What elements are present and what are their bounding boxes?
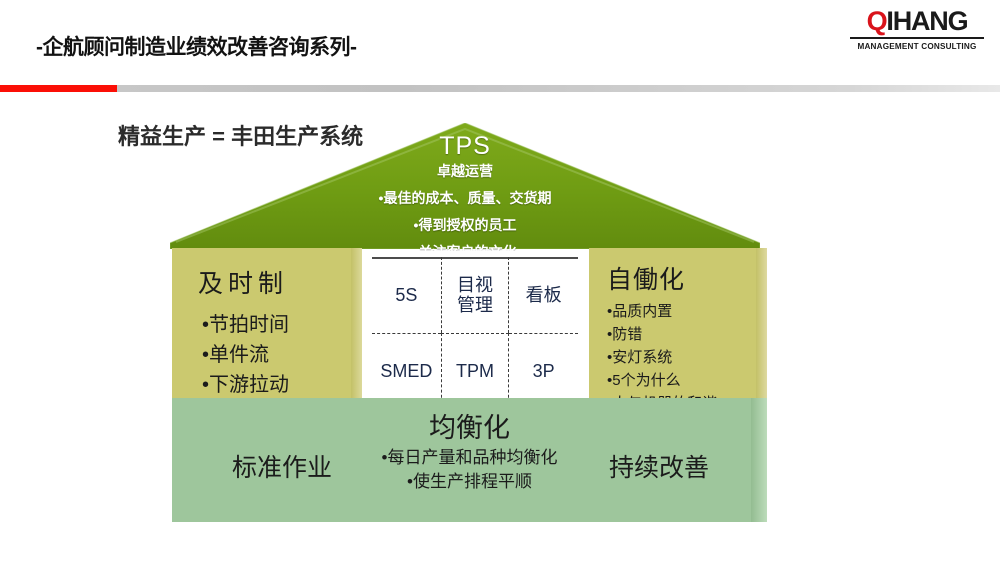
foundation-right-label: 持续改善 xyxy=(569,448,749,484)
roof-shape xyxy=(170,123,760,249)
tool-cell-visual-management: 目视管理 xyxy=(441,257,510,333)
brand-tagline: MANAGEMENT CONSULTING xyxy=(853,41,982,51)
brand-mark-q: Q xyxy=(867,6,887,36)
tps-house-diagram: 精益生产 = 丰田生产系统 TPS 卓越运营 •最佳的成本、质量、交货期 •得到… xyxy=(0,96,1000,562)
tool-cell-tpm: TPM xyxy=(441,333,510,409)
visual-management-line2: 管理 xyxy=(457,295,493,315)
header-divider-bar xyxy=(0,85,1000,92)
tool-cell-3p: 3P xyxy=(509,333,578,409)
pillar-left-bullets: •节拍时间 •单件流 •下游拉动 xyxy=(202,310,289,400)
foundation-edge-shade xyxy=(751,398,767,522)
pillar-left-heading: 及时制 xyxy=(198,264,288,300)
brand-mark-rest: IHANG xyxy=(886,6,967,36)
foundation-block: 标准作业 均衡化 •每日产量和品种均衡化 •使生产排程平顺 持续改善 xyxy=(172,398,767,522)
page-title: -企航顾问制造业绩效改善咨询系列- xyxy=(36,31,357,61)
pillar-right-bullet-1: •品质内置 xyxy=(607,301,717,324)
pillar-right-bullet-3: •安灯系统 xyxy=(607,347,717,370)
slide-header: -企航顾问制造业绩效改善咨询系列- QIHANG MANAGEMENT CONS… xyxy=(0,0,1000,88)
tool-cell-kanban: 看板 xyxy=(509,257,578,333)
pillar-right-heading: 自働化 xyxy=(607,260,685,296)
foundation-left-label: 标准作业 xyxy=(192,448,372,484)
foundation-center-block: 均衡化 •每日产量和品种均衡化 •使生产排程平顺 xyxy=(362,412,577,495)
tools-grid: 5S 目视管理 看板 SMED TPM 3P xyxy=(372,257,578,408)
pillar-left-bullet-1: •节拍时间 xyxy=(202,310,289,340)
tool-cell-5s: 5S xyxy=(372,257,441,333)
brand-wordmark: QIHANG xyxy=(850,8,984,35)
pillar-left-bullet-2: •单件流 xyxy=(202,340,289,370)
brand-logo: QIHANG MANAGEMENT CONSULTING xyxy=(850,8,984,51)
brand-divider-rule xyxy=(850,37,984,39)
header-divider-accent xyxy=(0,85,117,92)
tool-cell-smed: SMED xyxy=(372,333,441,409)
visual-management-line1: 目视 xyxy=(457,275,493,295)
foundation-bullet-1: •每日产量和品种均衡化 xyxy=(362,446,577,471)
foundation-center-title: 均衡化 xyxy=(362,412,577,446)
pillar-right-bullet-2: •防错 xyxy=(607,324,717,347)
foundation-bullet-2: •使生产排程平顺 xyxy=(362,470,577,495)
pillar-left-bullet-3: •下游拉动 xyxy=(202,370,289,400)
pillar-right-bullet-4: •5个为什么 xyxy=(607,370,717,393)
tool-cell-visual-management-text: 目视管理 xyxy=(457,275,493,315)
